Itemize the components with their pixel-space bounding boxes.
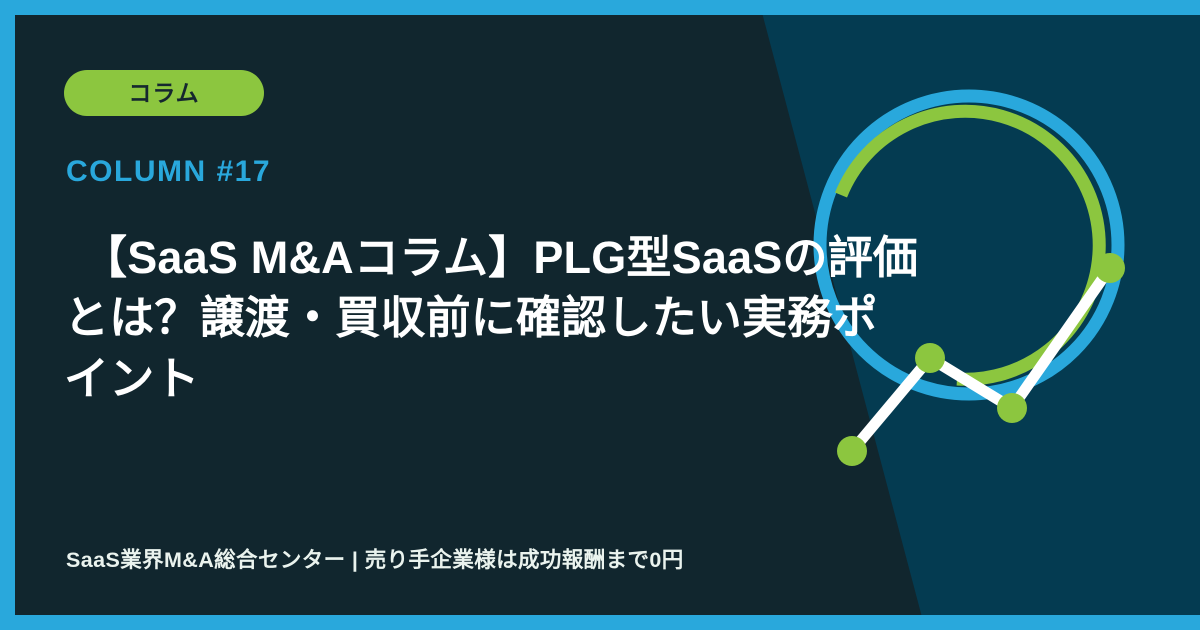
og-card: コラム COLUMN #17 【SaaS M&Aコラム】PLG型SaaSの評価と… [0, 0, 1200, 630]
card-content: コラム COLUMN #17 【SaaS M&Aコラム】PLG型SaaSの評価と… [64, 15, 924, 615]
card-panel: コラム COLUMN #17 【SaaS M&Aコラム】PLG型SaaSの評価と… [15, 15, 1200, 615]
site-tagline: SaaS業界M&A総合センター | 売り手企業様は成功報酬まで0円 [66, 550, 684, 572]
page-title: 【SaaS M&Aコラム】PLG型SaaSの評価とは？譲渡・買収前に確認したい実… [64, 228, 919, 409]
column-number-label: COLUMN #17 [66, 157, 271, 187]
category-badge: コラム [64, 70, 264, 116]
